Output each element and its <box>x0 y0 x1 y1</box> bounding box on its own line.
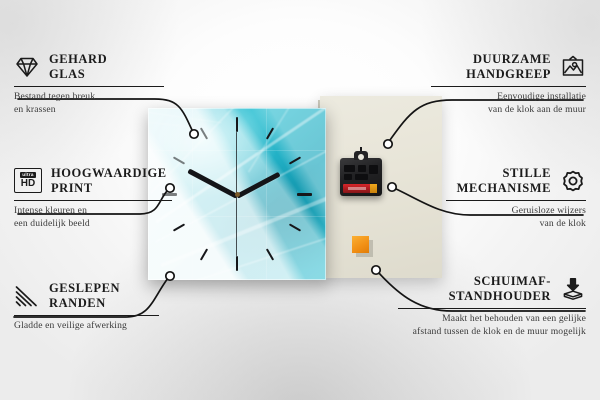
callout-gehard-glas: GEHARD GLAS Bestand tegen breuk en krass… <box>14 52 164 116</box>
callout-subtext: Intense kleuren en een duidelijk beeld <box>14 205 172 230</box>
callout-rule <box>14 86 164 87</box>
callout-rule <box>398 308 586 309</box>
callout-geslepen-randen: GESLEPEN RANDEN Gladde en veilige afwerk… <box>14 281 159 333</box>
callout-title: HOOGWAARDIGE PRINT <box>51 166 167 196</box>
diamond-icon <box>14 55 40 79</box>
callout-title: SCHUIMAF- STANDHOUDER <box>449 274 551 304</box>
clock-movement <box>340 158 382 196</box>
callout-rule <box>446 200 586 201</box>
gear-icon <box>560 169 586 193</box>
callout-schuimafstandhouder: SCHUIMAF- STANDHOUDER Maakt het behouden… <box>398 274 586 338</box>
beveled-edge-icon <box>14 284 40 308</box>
callout-stille-mechanisme: STILLE MECHANISME Geruisloze wijzers van… <box>446 166 586 230</box>
callout-title: GEHARD GLAS <box>49 52 107 82</box>
callout-hoogwaardige-print: ultra HD HOOGWAARDIGE PRINT Intense kleu… <box>14 166 172 230</box>
callout-subtext: Bestand tegen breuk en krassen <box>14 91 164 116</box>
clock-face <box>148 108 326 280</box>
callout-subtext: Eenvoudige installatie van de klok aan d… <box>431 91 586 116</box>
product-scene <box>140 96 440 286</box>
callout-duurzame-handgreep: DUURZAME HANDGREEP Eenvoudige installati… <box>431 52 586 116</box>
picture-hanger-icon <box>560 55 586 79</box>
callout-title: GESLEPEN RANDEN <box>49 281 120 311</box>
hand-center-cap <box>235 192 240 197</box>
callout-rule <box>431 86 586 87</box>
ultra-hd-icon: ultra HD <box>14 168 42 193</box>
callout-subtext: Gladde en veilige afwerking <box>14 320 159 333</box>
foam-spacer <box>352 236 369 253</box>
callout-rule <box>14 200 172 201</box>
product-feature-infographic: GEHARD GLAS Bestand tegen breuk en krass… <box>0 0 600 400</box>
callout-title: STILLE MECHANISME <box>457 166 551 196</box>
callout-subtext: Geruisloze wijzers van de klok <box>446 205 586 230</box>
callout-subtext: Maakt het behouden van een gelijke afsta… <box>398 313 586 338</box>
battery <box>343 184 377 193</box>
callout-title: DUURZAME HANDGREEP <box>466 52 551 82</box>
callout-rule <box>14 315 159 316</box>
press-pad-icon <box>560 277 586 301</box>
